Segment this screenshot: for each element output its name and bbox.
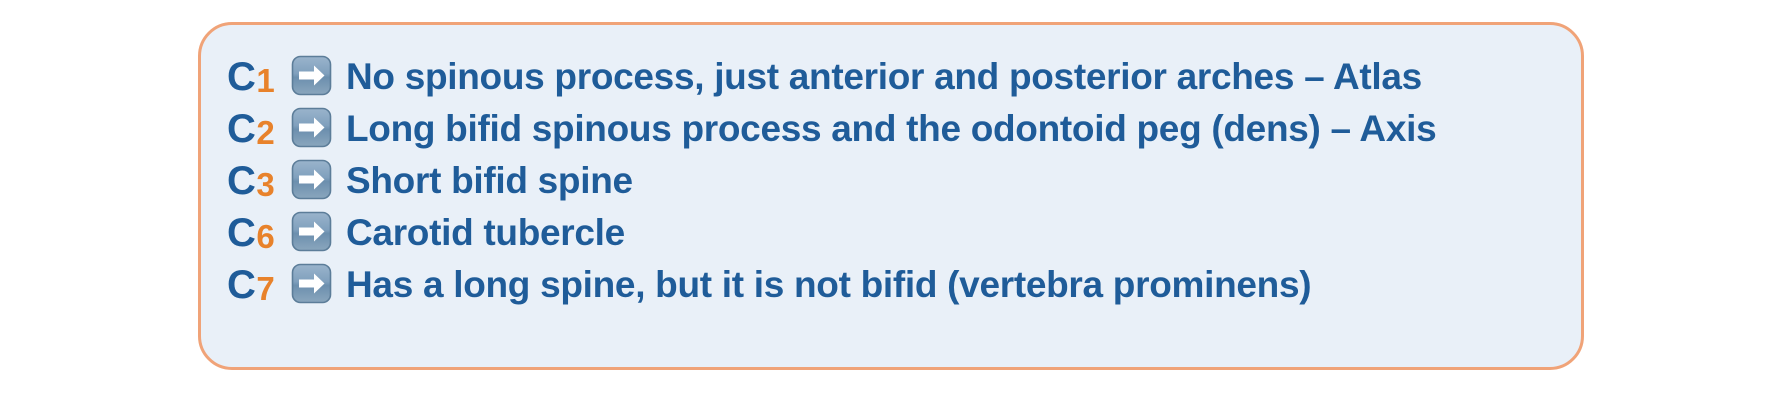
list-item: C6 — [227, 207, 1581, 259]
vertebra-description: Long bifid spinous process and the odont… — [346, 110, 1436, 147]
vertebra-number: 2 — [256, 114, 274, 152]
right-arrow-icon — [291, 263, 332, 304]
list-item: C3 — [227, 155, 1581, 207]
right-arrow-icon — [291, 55, 332, 96]
vertebra-number: 3 — [256, 166, 274, 204]
vertebra-number: 1 — [256, 62, 274, 100]
cervical-vertebrae-panel: C1 — [198, 22, 1584, 370]
vertebra-description: Short bifid spine — [346, 162, 633, 199]
vertebra-letter: C — [227, 263, 255, 308]
vertebra-letter: C — [227, 159, 255, 204]
vertebrae-list: C1 — [201, 51, 1581, 311]
right-arrow-icon — [291, 107, 332, 148]
vertebra-description: No spinous process, just anterior and po… — [346, 58, 1422, 95]
list-item: C7 — [227, 259, 1581, 311]
vertebra-letter: C — [227, 211, 255, 256]
vertebra-label: C1 — [227, 55, 289, 100]
vertebra-number: 6 — [256, 218, 274, 256]
vertebra-label: C3 — [227, 159, 289, 204]
vertebra-description: Carotid tubercle — [346, 214, 625, 251]
vertebra-number: 7 — [256, 270, 274, 308]
list-item: C2 — [227, 103, 1581, 155]
vertebra-label: C7 — [227, 263, 289, 308]
vertebra-description: Has a long spine, but it is not bifid (v… — [346, 266, 1311, 303]
screenshot-canvas: C1 — [0, 0, 1776, 406]
list-item: C1 — [227, 51, 1581, 103]
right-arrow-icon — [291, 211, 332, 252]
right-arrow-icon — [291, 159, 332, 200]
vertebra-letter: C — [227, 55, 255, 100]
vertebra-label: C6 — [227, 211, 289, 256]
vertebra-label: C2 — [227, 107, 289, 152]
vertebra-letter: C — [227, 107, 255, 152]
